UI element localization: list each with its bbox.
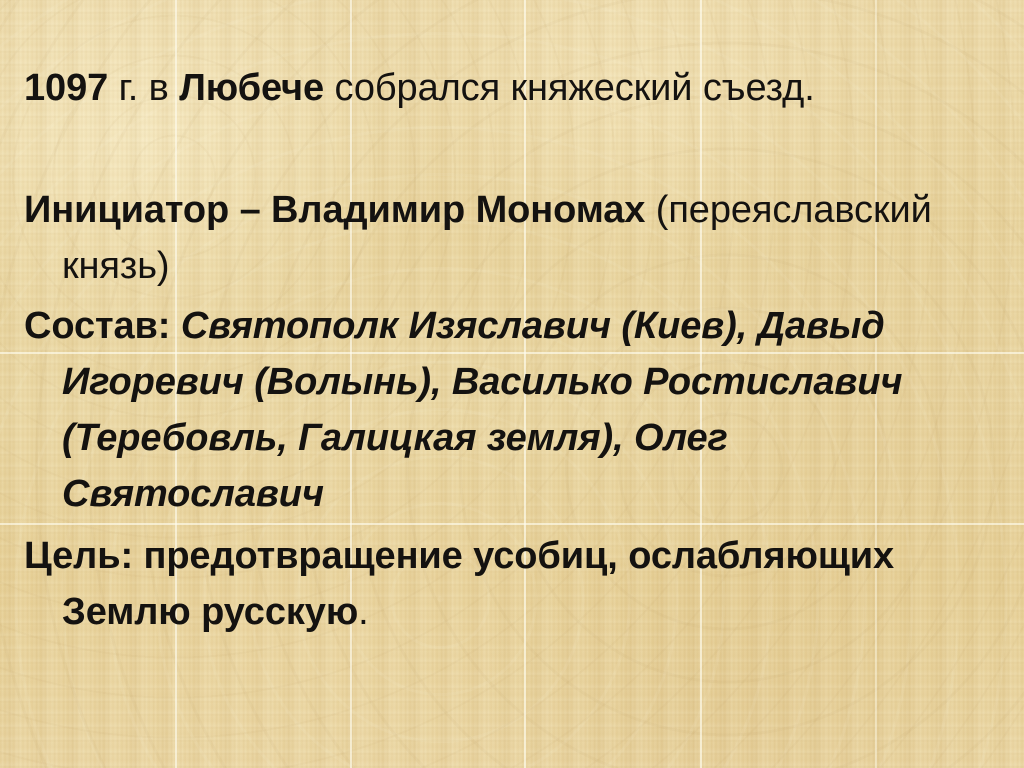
congress-year-paragraph: 1097 г. в Любече собрался княжеский съез… <box>24 60 942 116</box>
slide-canvas: 1097 г. в Любече собрался княжеский съез… <box>0 0 1024 768</box>
initiator-name-run: Инициатор – Владимир Мономах <box>24 189 656 231</box>
goal-text-run: Цель: предотвращение усобиц, ослабляющих… <box>24 535 894 633</box>
participants-list-run: Святополк Изяславич (Киев), Давыд Игорев… <box>62 305 902 515</box>
participants-label-run: Состав: <box>24 305 181 347</box>
goal-paragraph: Цель: предотвращение усобиц, ослабляющих… <box>24 528 922 640</box>
place-run: Любече <box>179 67 334 109</box>
year-run: 1097 <box>24 67 119 109</box>
congress-predicate-run: собрался княжеский съезд. <box>335 67 815 109</box>
goal-period-run: . <box>358 591 368 633</box>
slide-text-body: 1097 г. в Любече собрался княжеский съез… <box>0 0 1024 768</box>
participants-paragraph: Состав: Святополк Изяславич (Киев), Давы… <box>24 298 992 522</box>
initiator-paragraph: Инициатор – Владимир Мономах (переяславс… <box>24 182 942 294</box>
year-suffix-run: г. в <box>119 67 180 109</box>
